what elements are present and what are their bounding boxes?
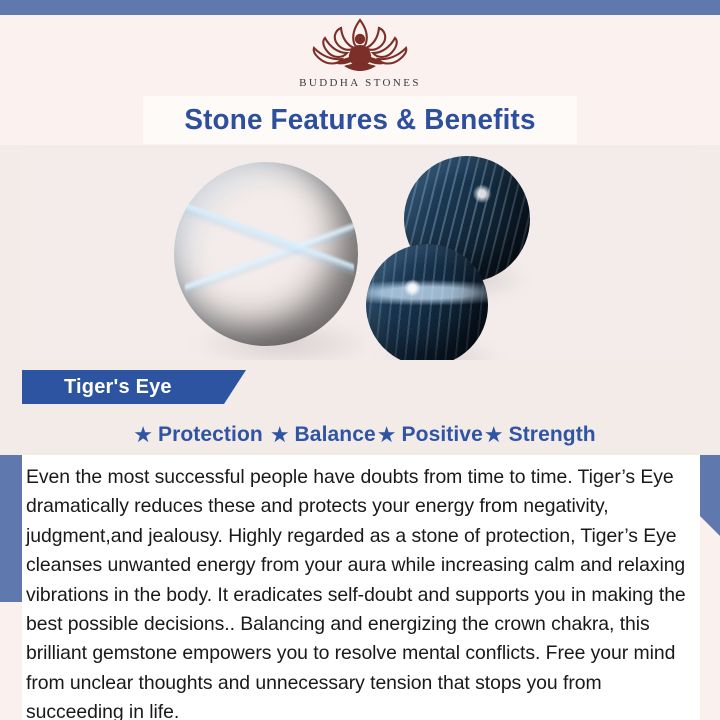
benefit-label-positive: Positive: [402, 423, 483, 447]
infographic-card: BUDDHA STONES Stone Features & Benefits …: [0, 0, 720, 720]
benefit-item: ★ Strength: [483, 423, 596, 447]
stone-photo: [22, 148, 700, 360]
benefits-row: ★ Protection ★ Balance ★ Positive ★ Stre…: [22, 418, 700, 452]
description-text: Even the most successful people have dou…: [22, 463, 686, 720]
large-sphere: [174, 162, 358, 346]
stone-name: Tiger's Eye: [22, 376, 172, 399]
small-sphere: [366, 244, 488, 360]
star-icon: ★: [270, 424, 290, 446]
benefit-item: ★ Positive: [376, 423, 483, 447]
title-banner: Stone Features & Benefits: [143, 96, 577, 144]
stone-name-badge: Tiger's Eye: [22, 370, 246, 404]
benefit-label-strength: Strength: [509, 423, 596, 447]
benefit-item: ★ Balance: [263, 423, 376, 447]
star-icon: ★: [377, 424, 397, 446]
brand-name: BUDDHA STONES: [0, 77, 720, 89]
benefit-label-protection: Protection: [158, 423, 263, 447]
benefit-label-balance: Balance: [295, 423, 376, 447]
description-block: Even the most successful people have dou…: [22, 455, 700, 720]
page-title: Stone Features & Benefits: [184, 104, 535, 137]
brand-logo: BUDDHA STONES: [0, 14, 720, 89]
star-icon: ★: [484, 424, 504, 446]
lotus-meditation-icon: [0, 14, 720, 76]
frame-top-bar: [0, 0, 720, 15]
star-icon: ★: [133, 424, 153, 446]
benefit-item: ★ Protection: [126, 423, 263, 447]
